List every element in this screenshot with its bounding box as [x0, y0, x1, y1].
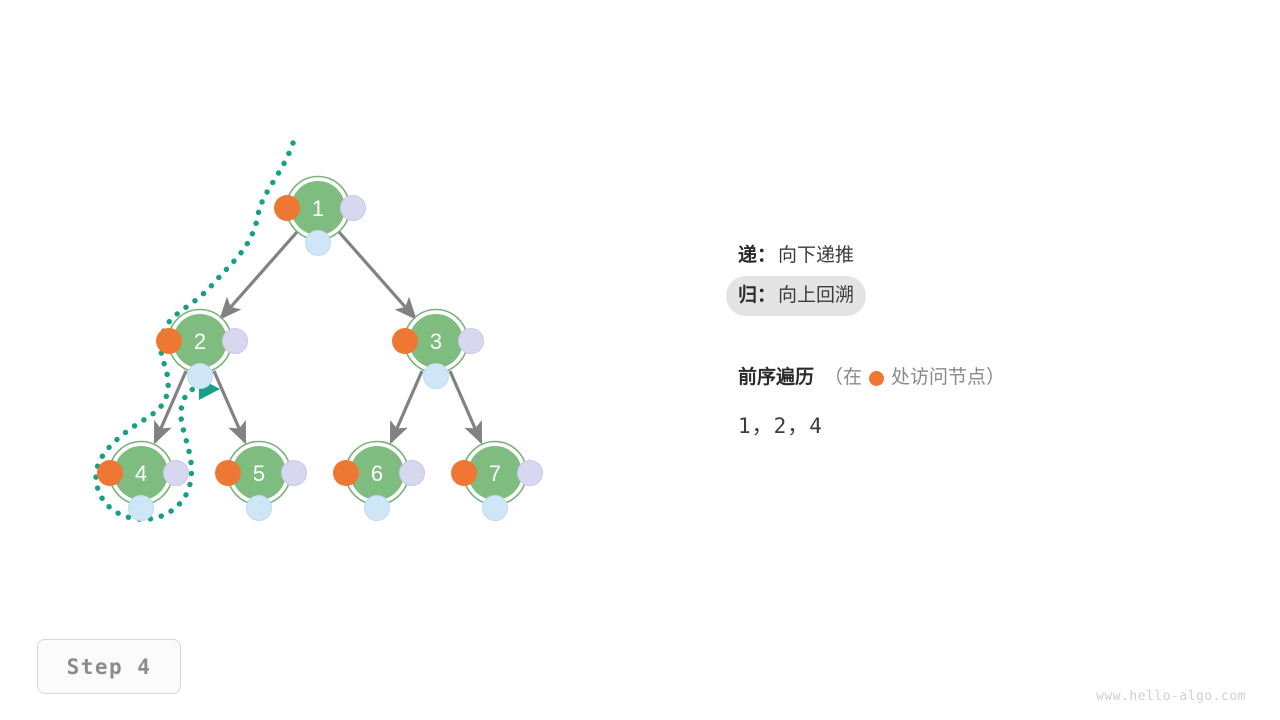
node-bottom-dot — [188, 364, 213, 389]
node-right-dot — [459, 329, 484, 354]
node-label: 4 — [135, 461, 147, 486]
legend-value-descend: 向下递推 — [778, 236, 854, 276]
node-label: 3 — [430, 329, 442, 354]
edge-3-6 — [391, 371, 422, 442]
traversal-result: 1，2，4 — [738, 410, 823, 440]
step-badge: Step 4 — [37, 639, 181, 694]
tree-node-7[interactable]: 7 — [451, 442, 543, 521]
traversal-heading: 前序遍历 （在 处访问节点） — [726, 362, 1017, 394]
edge-1-3 — [339, 232, 415, 318]
node-label: 6 — [371, 461, 383, 486]
edge-1-2 — [221, 232, 297, 318]
node-label: 7 — [489, 461, 501, 486]
tree-node-3[interactable]: 3 — [392, 310, 484, 389]
tree-diagram-canvas: 1 2 3 4 — [0, 0, 1280, 720]
traversal-note-after: 处访问节点） — [891, 362, 1005, 394]
node-right-dot — [518, 461, 543, 486]
node-visit-dot — [215, 460, 241, 486]
node-bottom-dot — [483, 496, 508, 521]
traversal-title: 前序遍历 — [738, 362, 814, 394]
node-visit-dot — [274, 195, 300, 221]
node-bottom-dot — [247, 496, 272, 521]
tree-node-5[interactable]: 5 — [215, 442, 307, 521]
legend-value-backtrack: 向上回溯 — [778, 276, 854, 316]
site-watermark: www.hello-algo.com — [1096, 689, 1246, 704]
node-visit-dot — [451, 460, 477, 486]
tree-node-6[interactable]: 6 — [333, 442, 425, 521]
traversal-note-before: （在 — [824, 362, 862, 394]
node-right-dot — [164, 461, 189, 486]
legend-panel: 递： 向下递推 归： 向上回溯 — [726, 236, 1246, 316]
node-right-dot — [223, 329, 248, 354]
traversal-note: （在 处访问节点） — [824, 362, 1005, 394]
node-label: 5 — [253, 461, 265, 486]
node-right-dot — [400, 461, 425, 486]
node-bottom-dot — [129, 496, 154, 521]
edge-2-5 — [214, 371, 245, 442]
legend-key-descend: 递： — [738, 236, 776, 276]
node-right-dot — [341, 196, 366, 221]
legend-item-backtrack: 归： 向上回溯 — [726, 276, 866, 316]
node-label: 2 — [194, 329, 206, 354]
legend-key-backtrack: 归： — [738, 276, 776, 316]
node-bottom-dot — [365, 496, 390, 521]
node-visit-dot — [333, 460, 359, 486]
node-bottom-dot — [306, 231, 331, 256]
visit-marker-icon — [869, 371, 884, 386]
node-bottom-dot — [424, 364, 449, 389]
tree-nodes: 1 2 3 4 — [97, 177, 543, 521]
node-label: 1 — [312, 196, 324, 221]
node-visit-dot — [97, 460, 123, 486]
node-visit-dot — [156, 328, 182, 354]
legend-item-descend: 递： 向下递推 — [726, 236, 866, 276]
node-right-dot — [282, 461, 307, 486]
node-visit-dot — [392, 328, 418, 354]
edge-3-7 — [450, 371, 481, 442]
